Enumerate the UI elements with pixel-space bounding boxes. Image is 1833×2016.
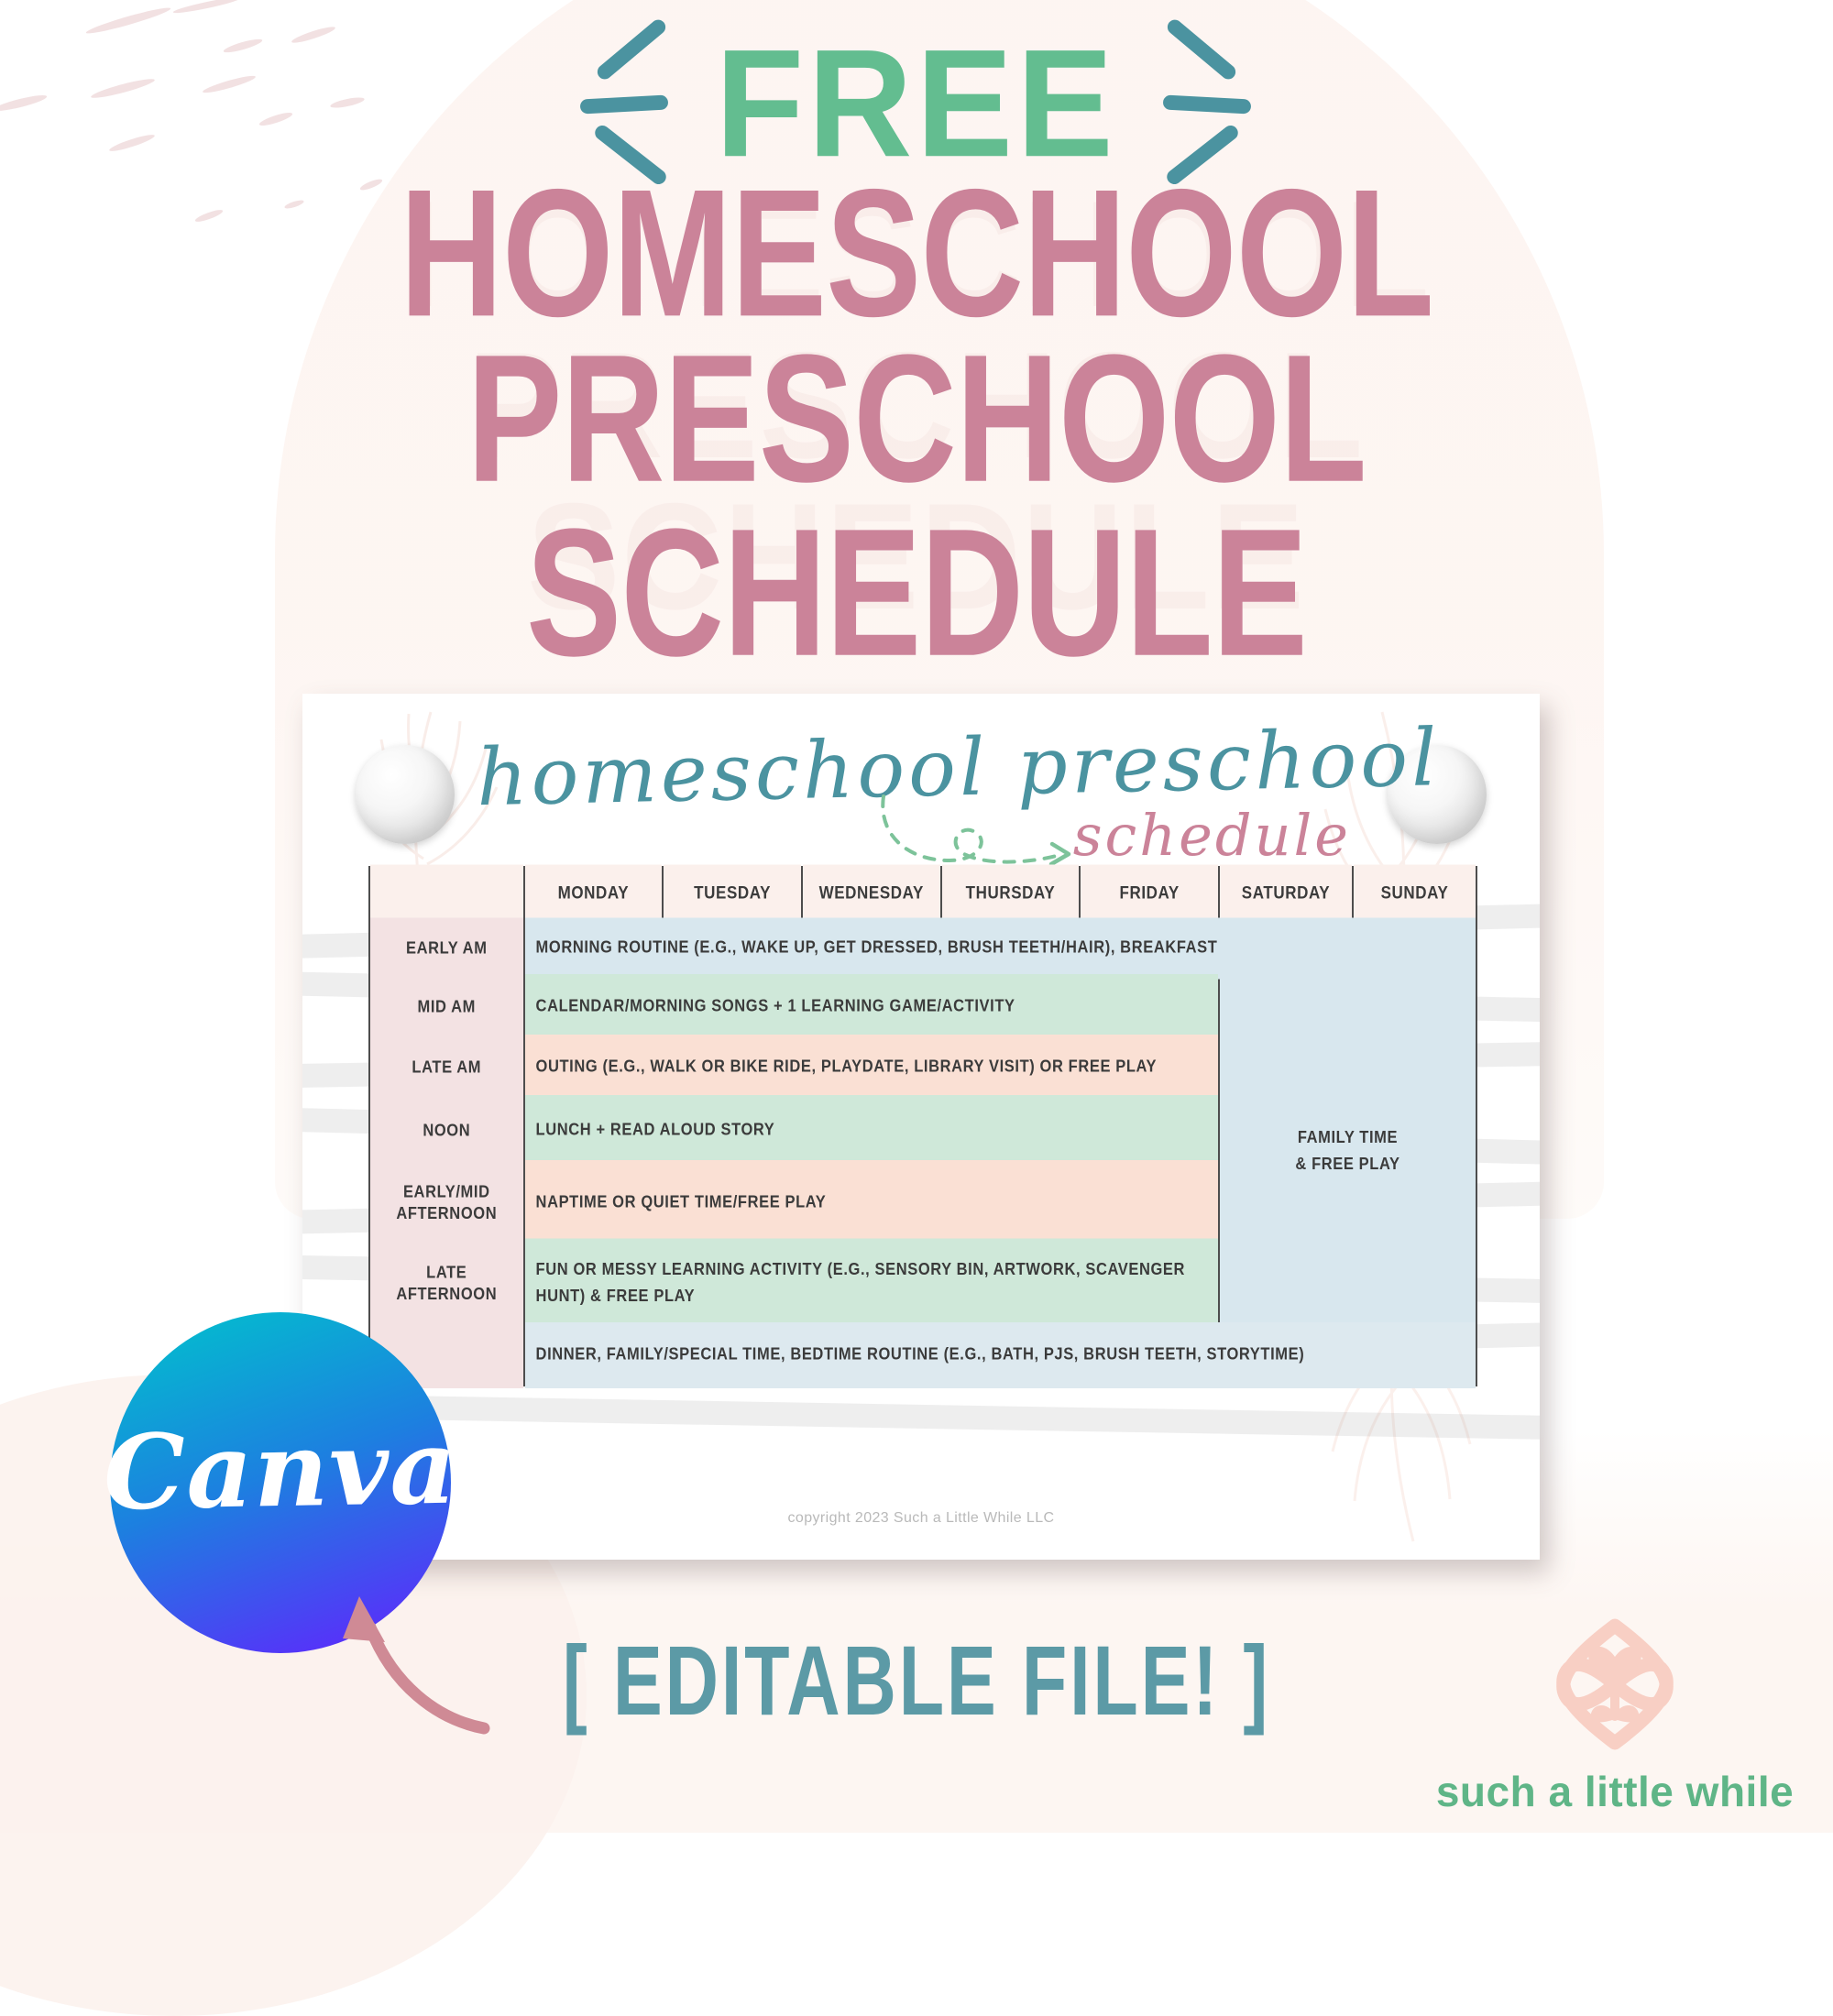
day-header-thursday: THURSDAY [941, 864, 1081, 924]
row-label-early-mid-afternoon: EARLY/MID AFTERNOON [369, 1159, 524, 1247]
table-row: MID AM CALENDAR/MORNING SONGS + 1 LEARNI… [369, 977, 1476, 1037]
brand-name: such a little while [1422, 1767, 1807, 1816]
row-label-early-am: EARLY AM [369, 916, 524, 980]
card-heading: homeschool preschool schedule [477, 723, 1375, 856]
row-label-late-afternoon: LATE AFTERNOON [369, 1238, 524, 1331]
page-title: HOMESCHOOL PRESCHOOL SCHEDULE [0, 180, 1833, 654]
day-header-monday: MONDAY [524, 864, 664, 924]
activity-late-afternoon: FUN OR MESSY LEARNING ACTIVITY (E.G., SE… [524, 1238, 1219, 1331]
row-label-late-am: LATE AM [369, 1034, 524, 1101]
magnet-left-decoration [356, 745, 455, 844]
dash-mark [172, 0, 242, 16]
weekend-family-time-cell: FAMILY TIME & FREE PLAY [1219, 956, 1476, 1346]
hourglass-heart-logo-icon [1534, 1604, 1696, 1765]
page-title-line-1: HOMESCHOOL [64, 166, 1769, 340]
day-header-tuesday: TUESDAY [663, 864, 802, 924]
brand-block: such a little while [1422, 1604, 1807, 1816]
canva-label: Canva [103, 1407, 458, 1533]
day-header-wednesday: WEDNESDAY [802, 864, 941, 924]
page-title-line-2: PRESCHOOL SCHEDULE [64, 332, 1769, 681]
day-header-saturday: SATURDAY [1219, 864, 1353, 924]
table-corner-cell [369, 864, 524, 924]
activity-evening: DINNER, FAMILY/SPECIAL TIME, BEDTIME ROU… [524, 1321, 1476, 1389]
day-header-sunday: SUNDAY [1353, 864, 1476, 924]
activity-noon: LUNCH + READ ALOUD STORY [524, 1094, 1219, 1168]
table-row: DINNER, FAMILY/SPECIAL TIME, BEDTIME ROU… [369, 1325, 1476, 1386]
day-header-friday: FRIDAY [1080, 864, 1219, 924]
weekend-line-1: FAMILY TIME [1298, 1128, 1398, 1146]
activity-early-mid-afternoon: NAPTIME OR QUIET TIME/FREE PLAY [524, 1159, 1219, 1247]
row-label-mid-am: MID AM [369, 973, 524, 1041]
card-heading-accent: schedule [1073, 802, 1351, 869]
weekend-line-2: & FREE PLAY [1295, 1155, 1399, 1173]
copyright-text: copyright 2023 Such a Little While LLC [302, 1510, 1540, 1527]
activity-late-am: OUTING (E.G., WALK OR BIKE RIDE, PLAYDAT… [524, 1034, 1219, 1101]
activity-mid-am: CALENDAR/MORNING SONGS + 1 LEARNING GAME… [524, 973, 1219, 1041]
schedule-table: MONDAY TUESDAY WEDNESDAY THURSDAY FRIDAY… [368, 866, 1477, 1386]
table-header-row: MONDAY TUESDAY WEDNESDAY THURSDAY FRIDAY… [369, 867, 1476, 920]
row-label-noon: NOON [369, 1094, 524, 1168]
schedule-printable-card: homeschool preschool schedule MONDAY TUE… [302, 694, 1540, 1560]
